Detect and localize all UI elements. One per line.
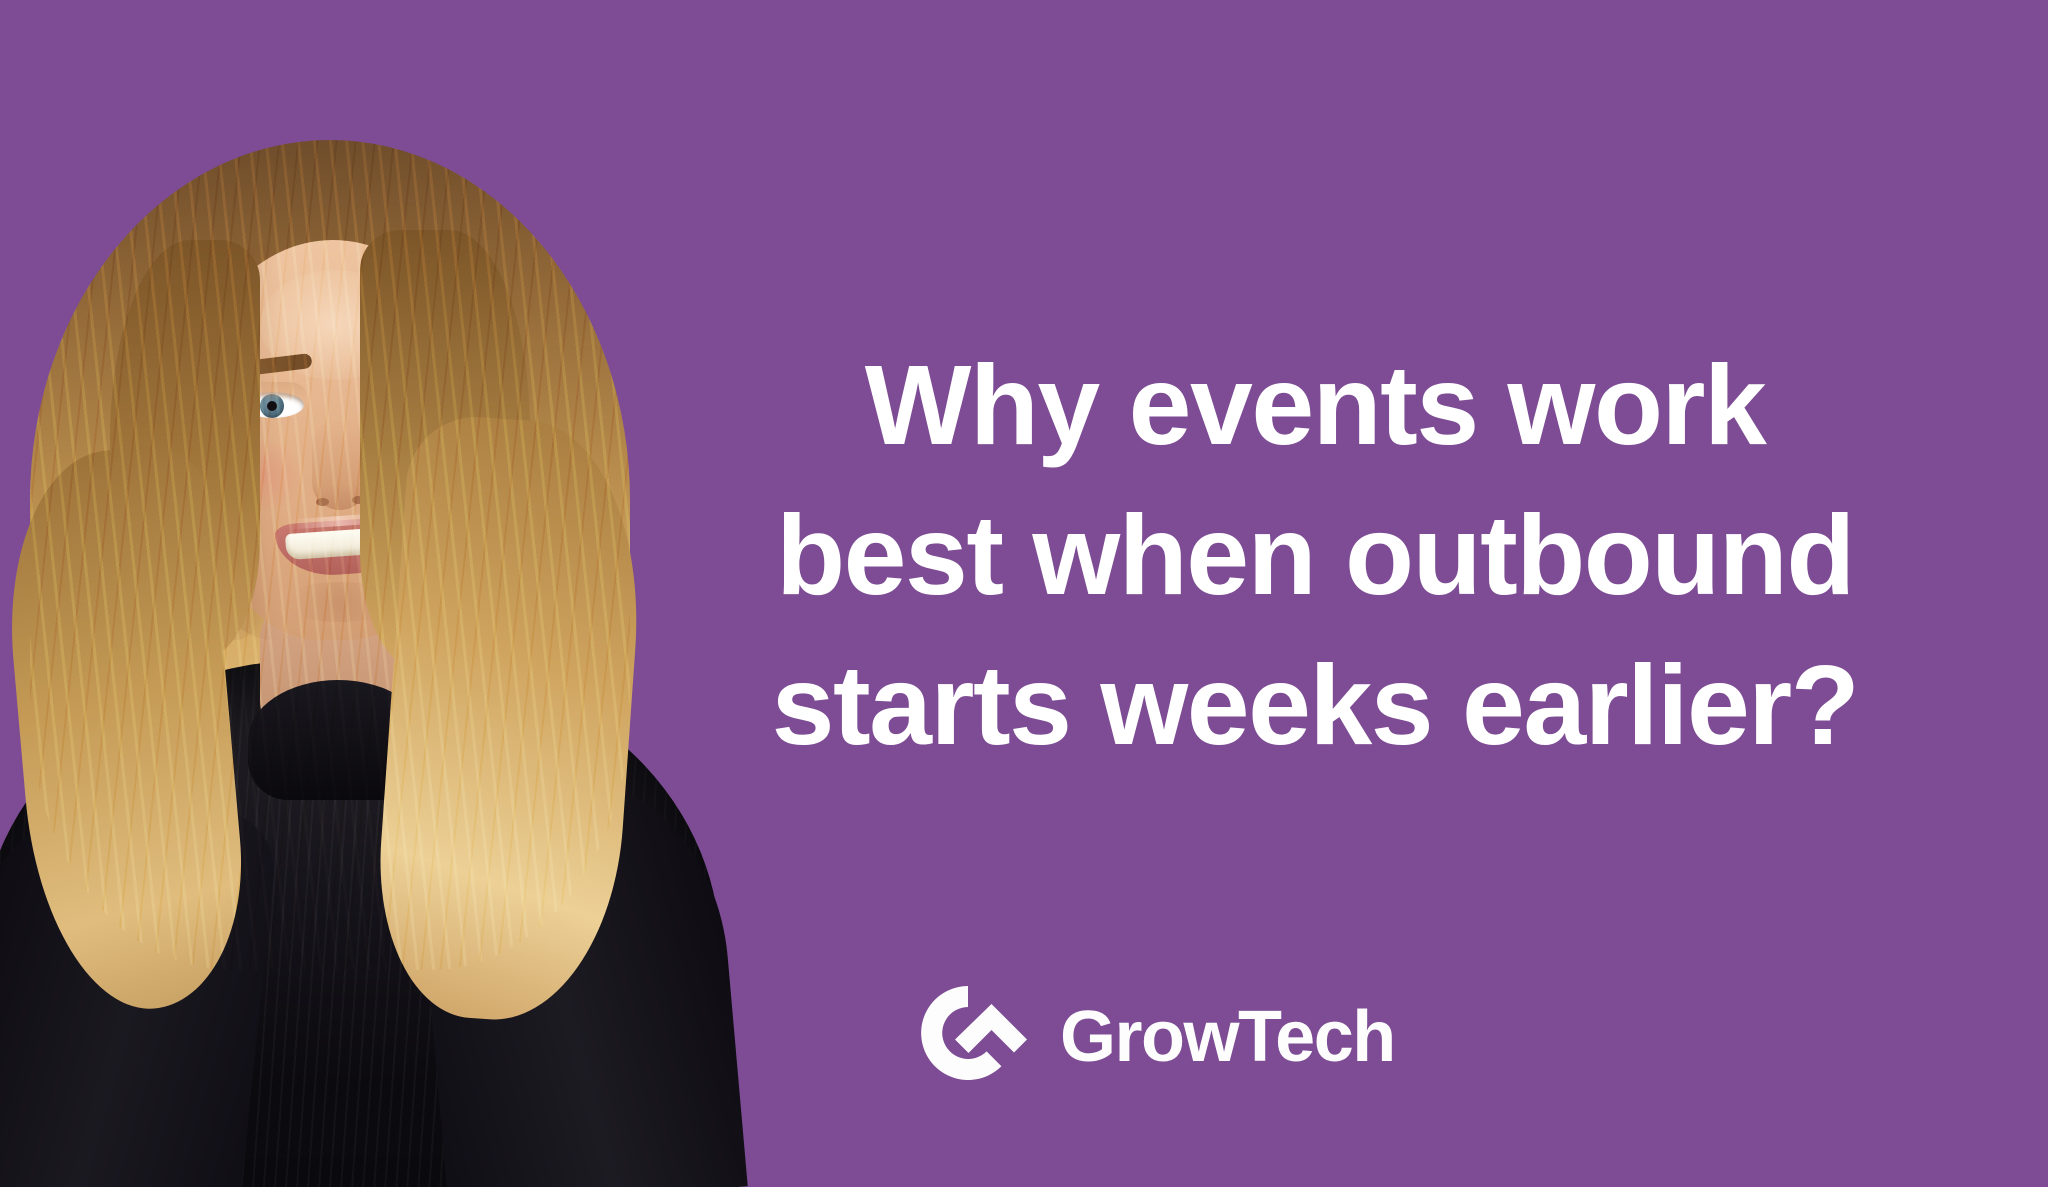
brand-name: GrowTech [1060,1001,1395,1073]
headline-line-1: Why events work [690,330,1940,480]
growtech-circle-chevron-logo-icon [908,982,1030,1084]
portrait-photo [0,120,780,1187]
brand-lockup: GrowTech [908,982,1395,1084]
social-banner-canvas: Why events work best when outbound start… [0,0,2048,1187]
headline-line-3: starts weeks earlier? [690,630,1940,780]
hair-strand-texture [30,140,630,970]
headline-line-2: best when outbound [690,480,1940,630]
headline: Why events work best when outbound start… [690,330,1940,780]
